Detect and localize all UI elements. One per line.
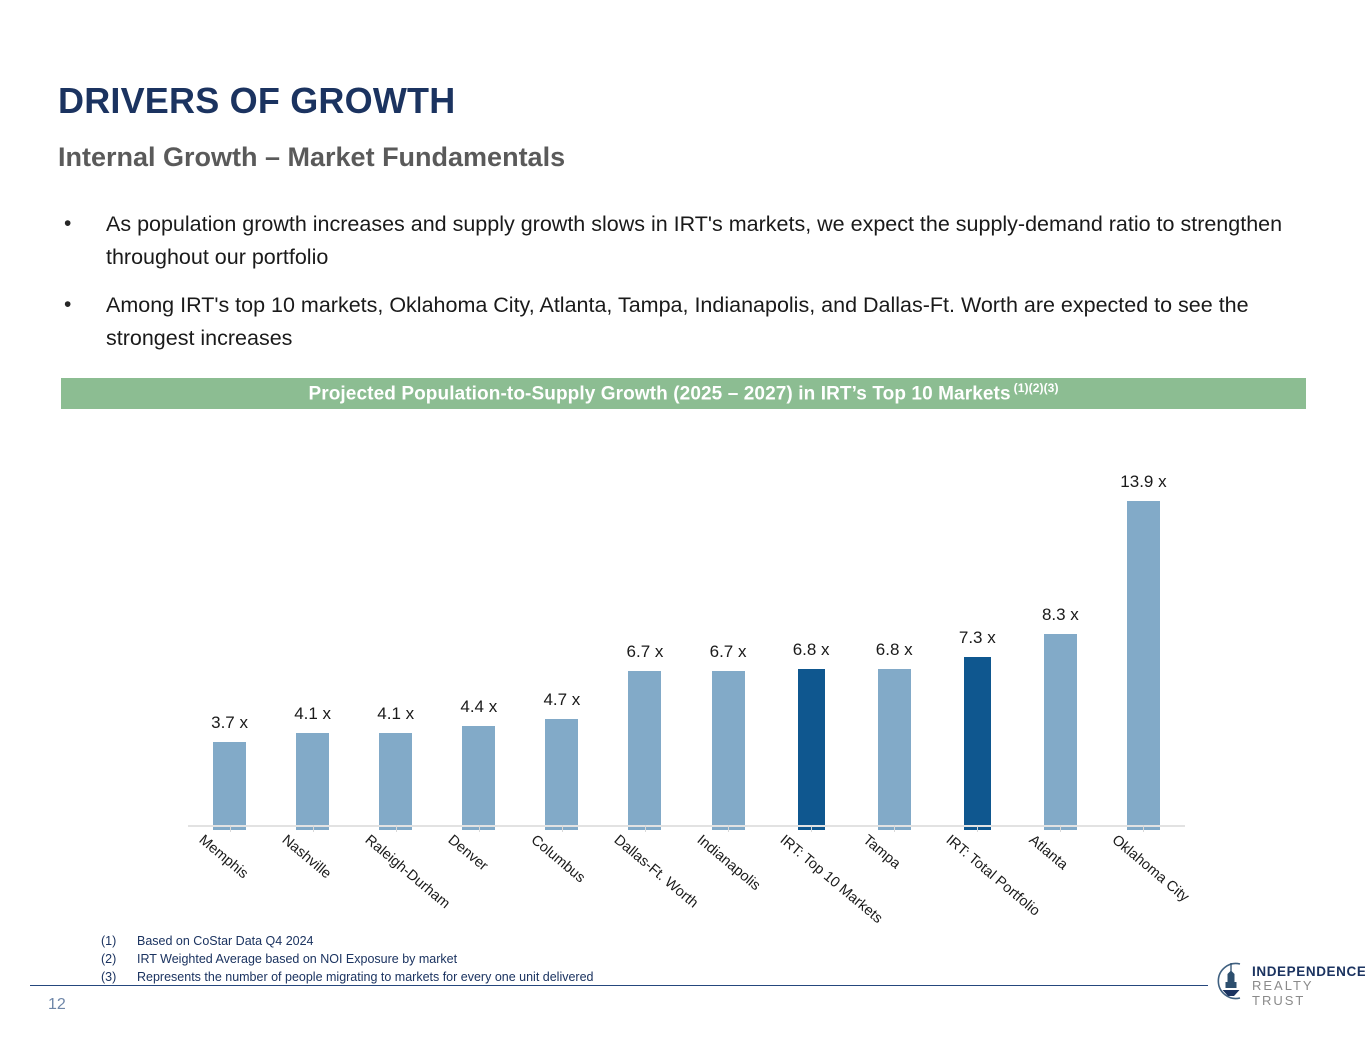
bar-group: 6.7 x (603, 440, 686, 830)
axis-tick (230, 825, 231, 832)
chart-axis-line (188, 825, 1185, 827)
logo-line-2: REALTY TRUST (1252, 979, 1365, 1008)
axis-tick (562, 825, 563, 832)
bar-value-label: 6.7 x (627, 642, 664, 662)
axis-category-label: Dallas-Ft. Worth (611, 832, 701, 911)
bar-group: 7.3 x (936, 440, 1019, 830)
axis-tick (645, 825, 646, 832)
axis-tick (811, 825, 812, 832)
bar-group: 6.8 x (770, 440, 853, 830)
bar (213, 742, 246, 830)
bar (964, 657, 991, 830)
footnote-row: (1)Based on CoStar Data Q4 2024 (101, 933, 921, 951)
axis-category-label: Atlanta (1026, 832, 1071, 873)
logo-line-1: INDEPENDENCE (1252, 964, 1365, 979)
bar-group: 6.8 x (853, 440, 936, 830)
bar-value-label: 8.3 x (1042, 605, 1079, 625)
bar (462, 726, 495, 830)
bar-value-label: 6.8 x (793, 640, 830, 660)
axis-category-label: Memphis (195, 832, 250, 882)
bar-value-label: 4.1 x (377, 704, 414, 724)
footnote-number: (1) (101, 933, 137, 951)
axis-category-label: Oklahoma City (1109, 832, 1192, 905)
bar (379, 733, 412, 830)
chart-title-label: Projected Population-to-Supply Growth (2… (308, 384, 1010, 405)
bar-value-label: 6.7 x (710, 642, 747, 662)
bar-group: 3.7 x (188, 440, 271, 830)
bullet-text: As population growth increases and suppl… (106, 208, 1303, 273)
bar-group: 6.7 x (687, 440, 770, 830)
bar (712, 671, 745, 830)
axis-category-label: Raleigh-Durham (361, 832, 452, 912)
bullet-marker: • (58, 289, 106, 321)
bar-value-label: 4.4 x (460, 697, 497, 717)
bar-group: 4.1 x (271, 440, 354, 830)
slide: DRIVERS OF GROWTH Internal Growth – Mark… (0, 0, 1365, 1055)
bar (628, 671, 661, 830)
bar-value-label: 4.1 x (294, 704, 331, 724)
bullet-text: Among IRT's top 10 markets, Oklahoma Cit… (106, 289, 1303, 354)
axis-tick (894, 825, 895, 832)
page-title: DRIVERS OF GROWTH (58, 82, 455, 120)
footnote-text: Represents the number of people migratin… (137, 969, 921, 987)
chart-title-footnote-refs: (1)(2)(3) (1014, 381, 1059, 395)
bar-chart: 3.7 x4.1 x4.1 x4.4 x4.7 x6.7 x6.7 x6.8 x… (0, 420, 1365, 920)
axis-tick (1143, 825, 1144, 832)
footer-divider (30, 985, 1208, 986)
bar-value-label: 13.9 x (1120, 472, 1166, 492)
bar-group: 4.4 x (437, 440, 520, 830)
bar (296, 733, 329, 830)
footnote-text: Based on CoStar Data Q4 2024 (137, 933, 921, 951)
chart-title-banner: Projected Population-to-Supply Growth (2… (61, 378, 1306, 409)
axis-category-label: Nashville (278, 832, 333, 882)
chart-title-text: Projected Population-to-Supply Growth (2… (308, 381, 1058, 405)
footnote-row: (2)IRT Weighted Average based on NOI Exp… (101, 951, 921, 969)
footnote-number: (2) (101, 951, 137, 969)
bar (798, 669, 825, 830)
bar-value-label: 7.3 x (959, 628, 996, 648)
bar (878, 669, 911, 830)
tower-building-icon (1210, 960, 1252, 1002)
axis-category-label: Columbus (528, 832, 588, 886)
list-item: • Among IRT's top 10 markets, Oklahoma C… (58, 289, 1303, 354)
bar-group: 4.7 x (520, 440, 603, 830)
axis-category-label: Tampa (860, 832, 904, 872)
bar (1044, 634, 1077, 830)
axis-tick (1060, 825, 1061, 832)
axis-tick (728, 825, 729, 832)
bullet-marker: • (58, 208, 106, 240)
page-subtitle: Internal Growth – Market Fundamentals (58, 143, 565, 173)
axis-tick (977, 825, 978, 832)
axis-category-label: Denver (444, 832, 490, 874)
axis-category-label: Indianapolis (694, 832, 764, 894)
bar (1127, 501, 1160, 830)
company-logo: INDEPENDENCE REALTY TRUST (1210, 958, 1340, 1004)
axis-tick (313, 825, 314, 832)
bar-group: 13.9 x (1102, 440, 1185, 830)
page-number: 12 (48, 996, 66, 1014)
bullet-list: • As population growth increases and sup… (58, 208, 1303, 371)
footnote-row: (3)Represents the number of people migra… (101, 969, 921, 987)
footnote-text: IRT Weighted Average based on NOI Exposu… (137, 951, 921, 969)
footnote-number: (3) (101, 969, 137, 987)
chart-plot-area: 3.7 x4.1 x4.1 x4.4 x4.7 x6.7 x6.7 x6.8 x… (188, 440, 1185, 830)
logo-text: INDEPENDENCE REALTY TRUST (1252, 964, 1365, 1008)
bar-group: 4.1 x (354, 440, 437, 830)
bar-value-label: 4.7 x (543, 690, 580, 710)
footnotes: (1)Based on CoStar Data Q4 2024(2)IRT We… (101, 933, 921, 986)
axis-tick (479, 825, 480, 832)
list-item: • As population growth increases and sup… (58, 208, 1303, 273)
bar-group: 8.3 x (1019, 440, 1102, 830)
bar-value-label: 3.7 x (211, 713, 248, 733)
bar (545, 719, 578, 830)
bar-value-label: 6.8 x (876, 640, 913, 660)
axis-tick (396, 825, 397, 832)
